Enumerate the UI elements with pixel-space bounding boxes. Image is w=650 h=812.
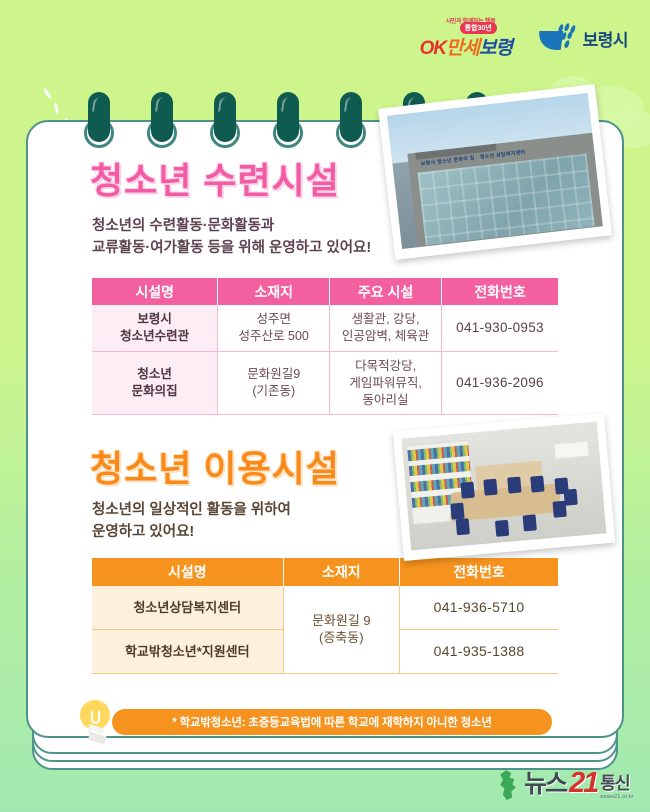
table-header-row: 시설명 소재지 전화번호 (92, 558, 558, 586)
boryeong-wing-icon (538, 22, 576, 54)
footer-brand-slug: news21.or.kr (600, 794, 634, 800)
poster-canvas: 시민과 함께하는 행복 통합30년 OK만세보령 보령시 (0, 0, 650, 812)
footer-brand-suffix: 통신 (600, 769, 629, 794)
cell-facility-name: 학교밖청소년*지원센터 (92, 629, 283, 673)
table-row: 청소년상담복지센터 문화원길 9 (증축동) 041-936-5710 (92, 586, 558, 629)
training-facilities-table: 시설명 소재지 주요 시설 전화번호 보령시 청소년수련관 성주면 성주산로 5… (92, 278, 558, 415)
ok-boryeong-logo: 시민과 함께하는 행복 통합30년 OK만세보령 (420, 16, 516, 60)
cell-location: 성주면 성주산로 500 (218, 305, 330, 351)
column-header-facility-name: 시설명 (92, 558, 283, 586)
section-description-training: 청소년의 수련활동·문화활동과 교류활동·여가활동 등을 위해 운영하고 있어요… (92, 216, 371, 260)
ok-logo-boryeong-text: 보령 (479, 38, 512, 59)
cell-phone: 041-936-2096 (441, 351, 558, 415)
table-row: 보령시 청소년수련관 성주면 성주산로 500 생활관, 강당, 인공암벽, 체… (92, 305, 558, 351)
korea-map-icon (495, 770, 521, 800)
cell-facility-name: 보령시 청소년수련관 (92, 305, 218, 351)
section-description-usage: 청소년의 일상적인 활동을 위하여 운영하고 있어요! (92, 500, 291, 544)
ok-logo-wordmark: OK만세보령 (420, 33, 512, 60)
footer-brand-news: 뉴스 (524, 764, 566, 800)
section-title-training: 청소년 수련시설 (90, 152, 340, 204)
photo-building: 보령시 청소년 문화의 집 · 청소년 상담복지센터 (378, 84, 612, 260)
spiral-ring-icon (214, 92, 236, 150)
cell-shared-location: 문화원길 9 (증축동) (283, 586, 400, 673)
spiral-ring-icon (88, 92, 110, 150)
column-header-facility-name: 시설명 (92, 278, 218, 305)
spiral-ring-icon (151, 92, 173, 150)
photo-meeting-room (393, 413, 616, 561)
table-header-row: 시설명 소재지 주요 시설 전화번호 (92, 278, 558, 305)
cell-phone: 041-930-0953 (441, 305, 558, 351)
table-row: 청소년 문화의집 문화원길9 (기존동) 다목적강당, 게임파워뮤직, 동아리실… (92, 351, 558, 415)
column-header-phone: 전화번호 (441, 278, 558, 305)
boryeong-city-logo: 보령시 (538, 22, 628, 54)
cell-main-facilities: 다목적강당, 게임파워뮤직, 동아리실 (330, 351, 442, 415)
usage-facilities-table: 시설명 소재지 전화번호 청소년상담복지센터 문화원길 9 (증축동) 041-… (92, 558, 558, 674)
header-logos: 시민과 함께하는 행복 통합30년 OK만세보령 보령시 (420, 16, 628, 60)
cell-facility-name: 청소년상담복지센터 (92, 586, 283, 629)
section-title-usage: 청소년 이용시설 (90, 440, 340, 492)
column-header-location: 소재지 (218, 278, 330, 305)
cell-main-facilities: 생활관, 강당, 인공암벽, 체육관 (330, 305, 442, 351)
column-header-location: 소재지 (283, 558, 400, 586)
cell-location: 문화원길9 (기존동) (218, 351, 330, 415)
cell-facility-name: 청소년 문화의집 (92, 351, 218, 415)
footer-brand-number: 21 (569, 767, 597, 800)
cell-phone: 041-935-1388 (400, 629, 558, 673)
footer-news-logo: 뉴스 21 통신 news21.or.kr (495, 764, 634, 800)
boryeong-city-name: 보령시 (583, 26, 628, 51)
column-header-phone: 전화번호 (400, 558, 558, 586)
cell-phone: 041-936-5710 (400, 586, 558, 629)
ok-logo-ok-text: OK (420, 38, 447, 59)
footnote-banner: * 학교밖청소년: 초중등교육법에 따른 학교에 재학하지 아니한 청소년 (112, 709, 552, 735)
spiral-ring-icon (340, 92, 362, 150)
spiral-ring-icon (277, 92, 299, 150)
column-header-main-facilities: 주요 시설 (330, 278, 442, 305)
ok-logo-manse-text: 만세 (446, 38, 479, 59)
